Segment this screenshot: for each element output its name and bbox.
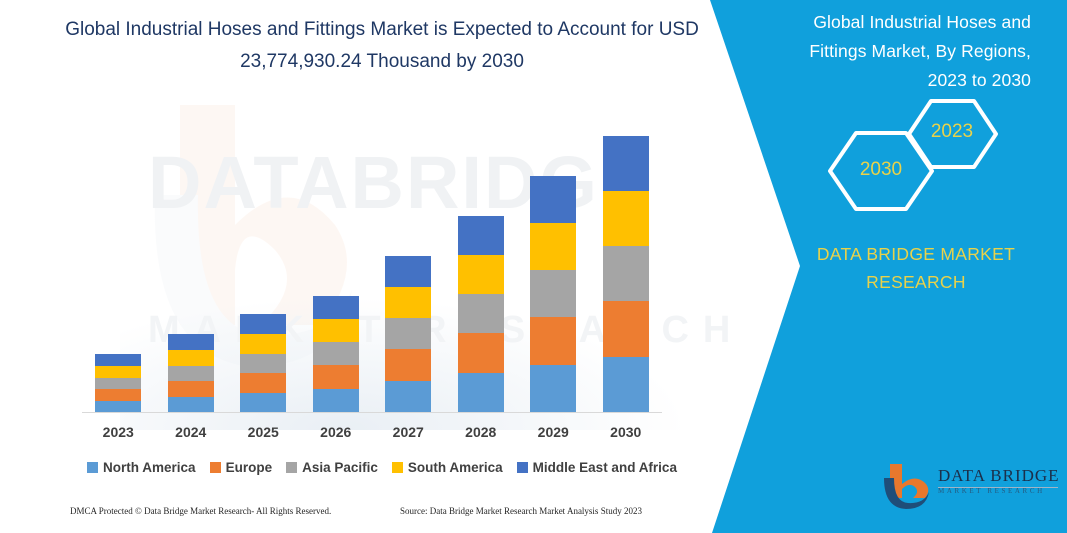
x-axis-label-2023: 2023 [82,424,154,440]
bar-segment-2025-middle-east-and-africa [240,314,286,334]
legend-swatch-icon [392,462,403,473]
bar-segment-2026-asia-pacific [313,342,359,365]
legend-item-middle-east-and-africa[interactable]: Middle East and Africa [517,460,677,475]
bar-segment-2028-asia-pacific [458,294,504,333]
bar-segment-2024-north-america [168,397,214,413]
legend-item-europe[interactable]: Europe [210,460,273,475]
bar-segment-2029-north-america [530,365,576,413]
bar-segment-2030-middle-east-and-africa [603,136,649,191]
x-axis-label-2026: 2026 [300,424,372,440]
bar-segment-2028-middle-east-and-africa [458,216,504,255]
bar-segment-2029-middle-east-and-africa [530,176,576,223]
x-axis-label-2024: 2024 [155,424,227,440]
bar-segment-2030-asia-pacific [603,246,649,301]
bar-segment-2027-europe [385,349,431,381]
brand-tagline: DATA BRIDGE MARKET RESEARCH [796,240,1036,296]
legend-item-south-america[interactable]: South America [392,460,503,475]
legend-label: Europe [226,460,273,475]
bar-segment-2027-south-america [385,287,431,318]
stacked-bar-chart [82,100,662,413]
legend-item-asia-pacific[interactable]: Asia Pacific [286,460,378,475]
footer-copyright: DMCA Protected © Data Bridge Market Rese… [70,506,331,516]
x-axis-line [82,412,662,413]
bar-segment-2024-middle-east-and-africa [168,334,214,350]
x-axis-label-2029: 2029 [517,424,589,440]
bar-segment-2025-south-america [240,334,286,354]
bar-2028 [458,216,504,413]
bar-segment-2030-north-america [603,357,649,413]
bar-segment-2026-south-america [313,319,359,342]
bar-segment-2024-south-america [168,350,214,366]
bar-segment-2030-south-america [603,191,649,246]
bar-segment-2028-north-america [458,373,504,413]
bar-2030 [603,136,649,413]
bar-segment-2029-south-america [530,223,576,270]
hexagon-2023: 2023 [904,97,1000,171]
bar-segment-2026-europe [313,365,359,389]
page-title: Global Industrial Hoses and Fittings Mar… [62,14,702,78]
logo-text: DATA BRIDGE MARKET RESEARCH [938,466,1062,497]
bar-segment-2023-south-america [95,366,141,378]
bar-segment-2025-europe [240,373,286,393]
data-bridge-logo: DATA BRIDGE MARKET RESEARCH [880,458,1060,520]
x-axis-label-2025: 2025 [227,424,299,440]
bar-segment-2025-asia-pacific [240,354,286,373]
x-axis-label-2030: 2030 [590,424,662,440]
chart-panel: DATABRIDGE MARKET RESEARCH Global Indust… [0,0,810,533]
hexagon-2023-label: 2023 [904,121,1000,143]
legend-label: Middle East and Africa [533,460,677,475]
infographic-root: Global Industrial Hoses and Fittings Mar… [0,0,1067,533]
bar-segment-2023-middle-east-and-africa [95,354,141,366]
bar-segment-2028-europe [458,333,504,373]
x-axis-label-2027: 2027 [372,424,444,440]
bar-segment-2024-asia-pacific [168,366,214,381]
bar-segment-2029-asia-pacific [530,270,576,317]
bar-segment-2029-europe [530,317,576,365]
logo-line-1: DATA BRIDGE [938,466,1062,485]
footer-source: Source: Data Bridge Market Research Mark… [400,506,642,516]
bar-segment-2025-north-america [240,393,286,413]
footer: DMCA Protected © Data Bridge Market Rese… [0,506,700,528]
legend-swatch-icon [517,462,528,473]
bar-2029 [530,176,576,413]
bar-segment-2027-middle-east-and-africa [385,256,431,287]
legend-label: Asia Pacific [302,460,378,475]
bar-segment-2026-north-america [313,389,359,413]
bar-segment-2024-europe [168,381,214,397]
x-axis-label-2028: 2028 [445,424,517,440]
side-panel-title: Global Industrial Hoses and Fittings Mar… [773,8,1031,95]
bar-2025 [240,314,286,413]
legend-swatch-icon [87,462,98,473]
chart-legend: North AmericaEuropeAsia PacificSouth Ame… [62,456,702,478]
legend-swatch-icon [210,462,221,473]
bar-segment-2023-asia-pacific [95,378,141,389]
legend-label: North America [103,460,196,475]
bar-segment-2030-europe [603,301,649,357]
bar-segment-2023-europe [95,389,141,401]
bar-2027 [385,256,431,413]
bar-segment-2027-north-america [385,381,431,413]
x-axis-labels: 20232024202520262027202820292030 [82,420,662,444]
logo-divider [938,487,1058,488]
hexagon-group: 2030 2023 [818,97,1008,207]
legend-label: South America [408,460,503,475]
bar-2024 [168,334,214,413]
bar-segment-2027-asia-pacific [385,318,431,349]
logo-mark-icon [880,462,934,512]
bar-2023 [95,354,141,413]
bar-segment-2028-south-america [458,255,504,294]
bar-segment-2026-middle-east-and-africa [313,296,359,319]
bar-2026 [313,296,359,413]
legend-swatch-icon [286,462,297,473]
legend-item-north-america[interactable]: North America [87,460,196,475]
